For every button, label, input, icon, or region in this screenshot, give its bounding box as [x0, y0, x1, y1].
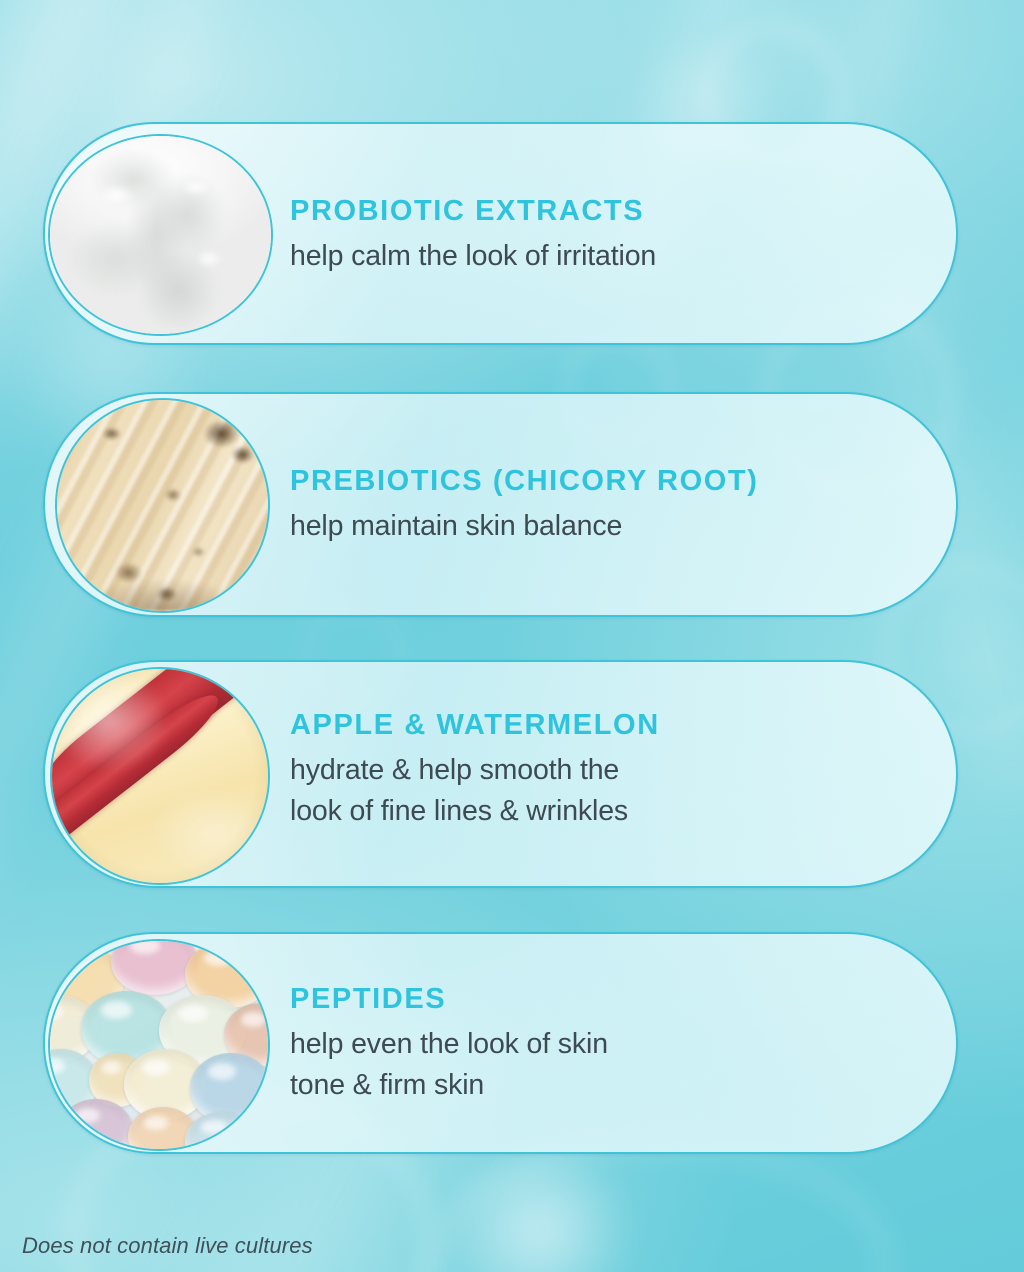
probiotic-extracts-photo — [48, 134, 273, 336]
benefit-card-text: APPLE & WATERMELON hydrate & help smooth… — [290, 710, 660, 832]
yogurt-cream-icon — [50, 136, 271, 334]
benefit-card-text: PEPTIDES help even the look of skin tone… — [290, 984, 608, 1106]
benefit-heading: PROBIOTIC EXTRACTS — [290, 196, 656, 227]
benefit-description-line: help calm the look of irritation — [290, 236, 656, 277]
benefit-description-line: look of fine lines & wrinkles — [290, 791, 660, 832]
benefit-description-line: help maintain skin balance — [290, 506, 758, 547]
benefit-card-text: PREBIOTICS (CHICORY ROOT) help maintain … — [290, 466, 758, 547]
apple-watermelon-photo — [50, 667, 270, 885]
benefit-heading: APPLE & WATERMELON — [290, 710, 660, 741]
chicory-root-icon — [57, 400, 268, 611]
chicory-root-photo — [55, 398, 270, 613]
gel-bead — [59, 1099, 133, 1151]
peptide-beads-icon — [50, 941, 268, 1149]
benefit-description-line: tone & firm skin — [290, 1065, 608, 1106]
benefit-heading: PEPTIDES — [290, 984, 608, 1015]
benefit-description-line: help even the look of skin — [290, 1024, 608, 1065]
apple-edge-shadow — [52, 669, 268, 883]
benefit-heading: PREBIOTICS (CHICORY ROOT) — [290, 466, 758, 497]
disclaimer-footnote: Does not contain live cultures — [22, 1233, 313, 1259]
benefit-card-text: PROBIOTIC EXTRACTS help calm the look of… — [290, 196, 656, 277]
peptides-photo — [48, 939, 270, 1151]
benefit-description-line: hydrate & help smooth the — [290, 750, 660, 791]
ingredient-benefits-infographic: PROBIOTIC EXTRACTS help calm the look of… — [0, 0, 1024, 1272]
apple-slice-icon — [52, 669, 268, 883]
